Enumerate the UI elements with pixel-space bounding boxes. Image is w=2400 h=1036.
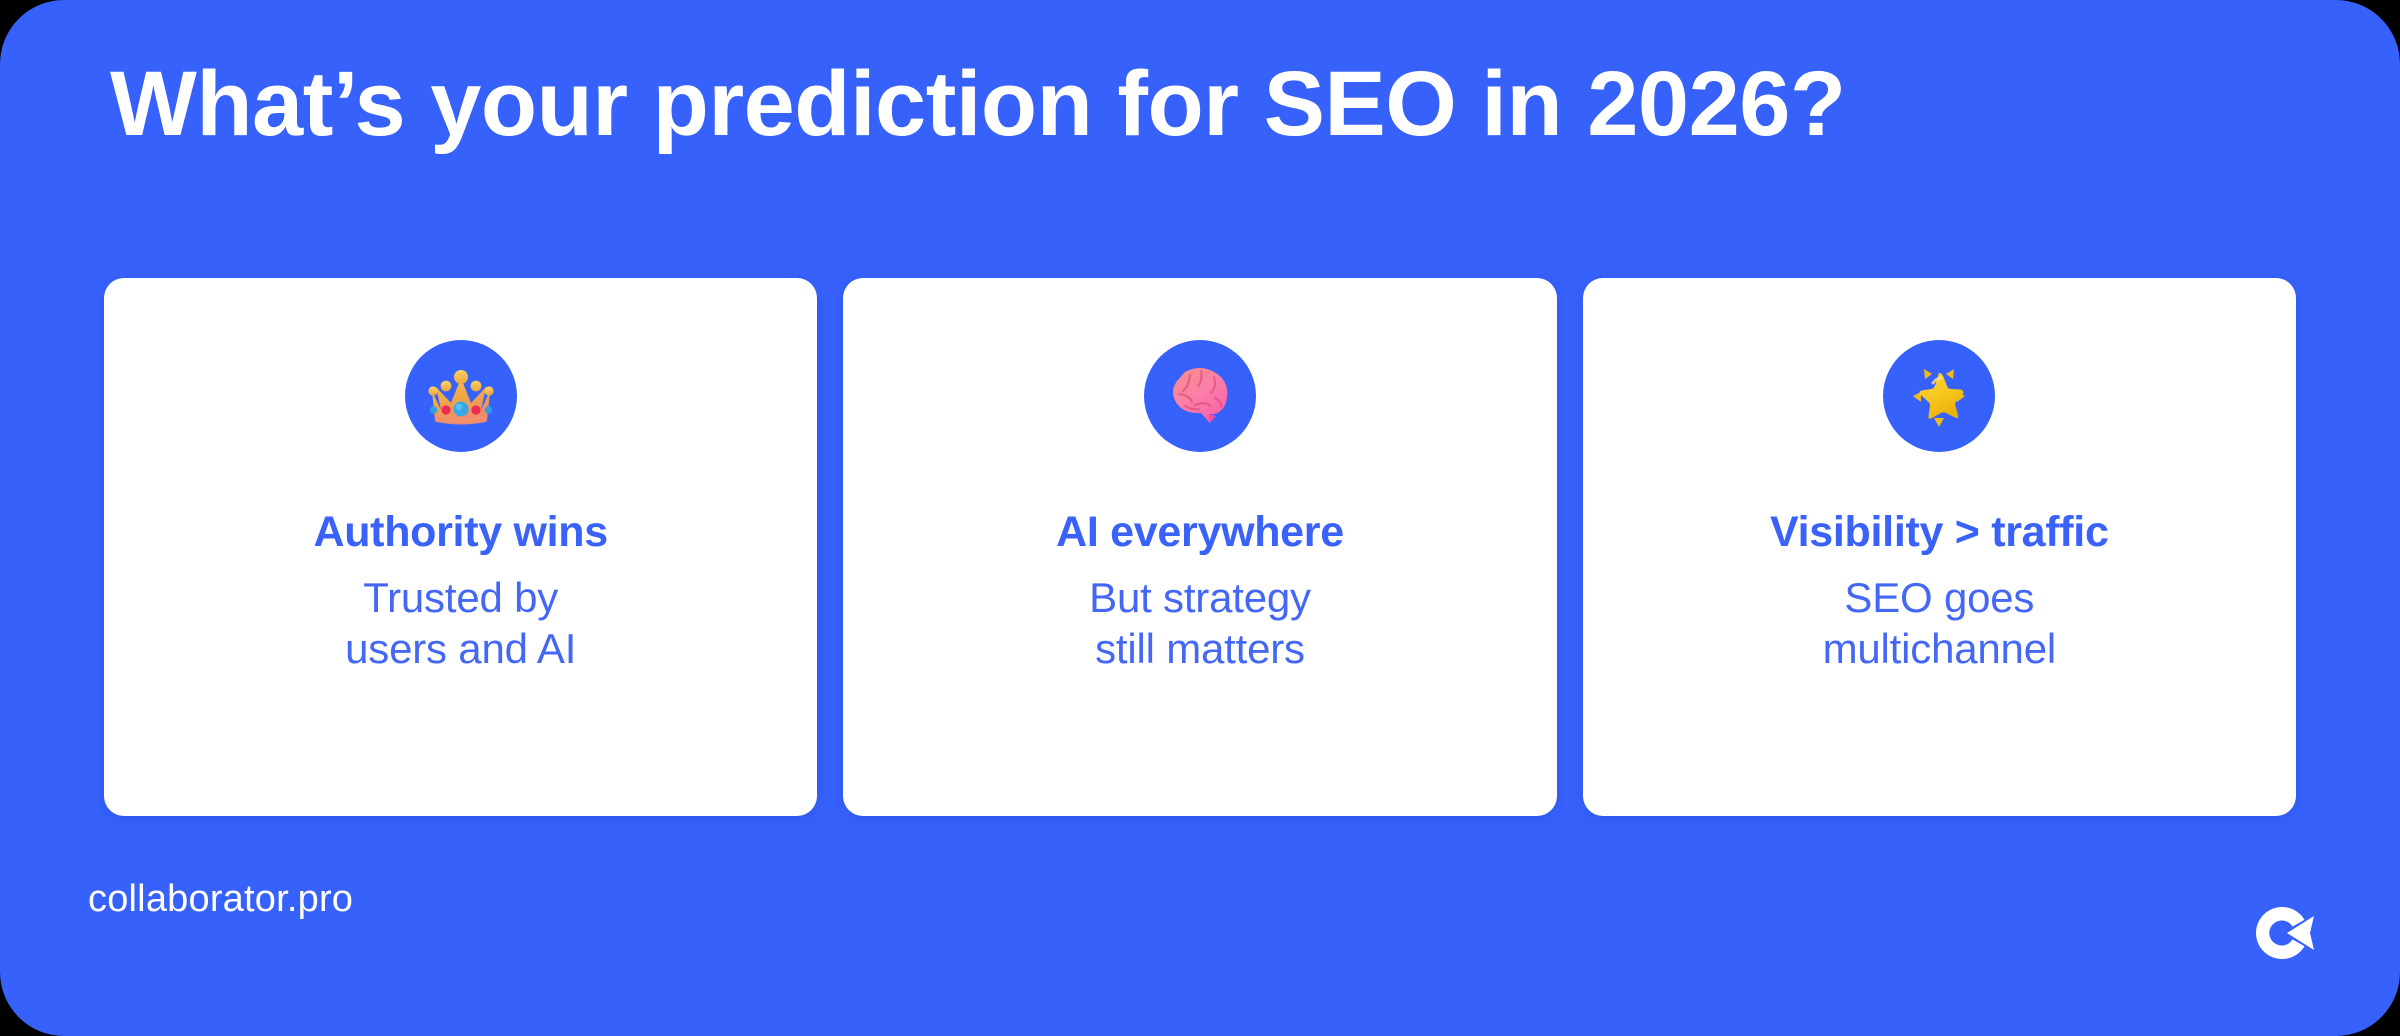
card-body-line: SEO goes [1823,572,2056,623]
card-body: Trusted by users and AI [345,556,576,674]
card-body-line: users and AI [345,623,576,674]
card-heading: Authority wins [313,452,607,556]
card-body-line: still matters [1089,623,1311,674]
prediction-card-authority[interactable]: Authority wins Trusted by users and AI [104,278,817,816]
card-body: But strategy still matters [1089,556,1311,674]
card-body: SEO goes multichannel [1823,556,2056,674]
footer-domain-label: collaborator.pro [88,880,353,918]
brain-icon [1165,364,1235,428]
prediction-card-ai[interactable]: AI everywhere But strategy still matters [843,278,1556,816]
poster-canvas: What’s your prediction for SEO in 2026? [0,0,2400,1036]
prediction-card-visibility[interactable]: Visibility > traffic SEO goes multichann… [1583,278,2296,816]
crown-icon [424,365,498,427]
card-body-line: Trusted by [345,572,576,623]
card-body-line: multichannel [1823,623,2056,674]
glowing-star-icon-badge [1883,340,1995,452]
brain-icon-badge [1144,340,1256,452]
card-body-line: But strategy [1089,572,1311,623]
glowing-star-icon [1901,359,1977,433]
crown-icon-badge [405,340,517,452]
card-heading: Visibility > traffic [1770,452,2109,556]
prediction-cards-row: Authority wins Trusted by users and AI [104,278,2296,816]
card-heading: AI everywhere [1056,452,1344,556]
page-title: What’s your prediction for SEO in 2026? [110,56,2210,153]
collaborator-logo-icon[interactable] [2254,905,2316,961]
